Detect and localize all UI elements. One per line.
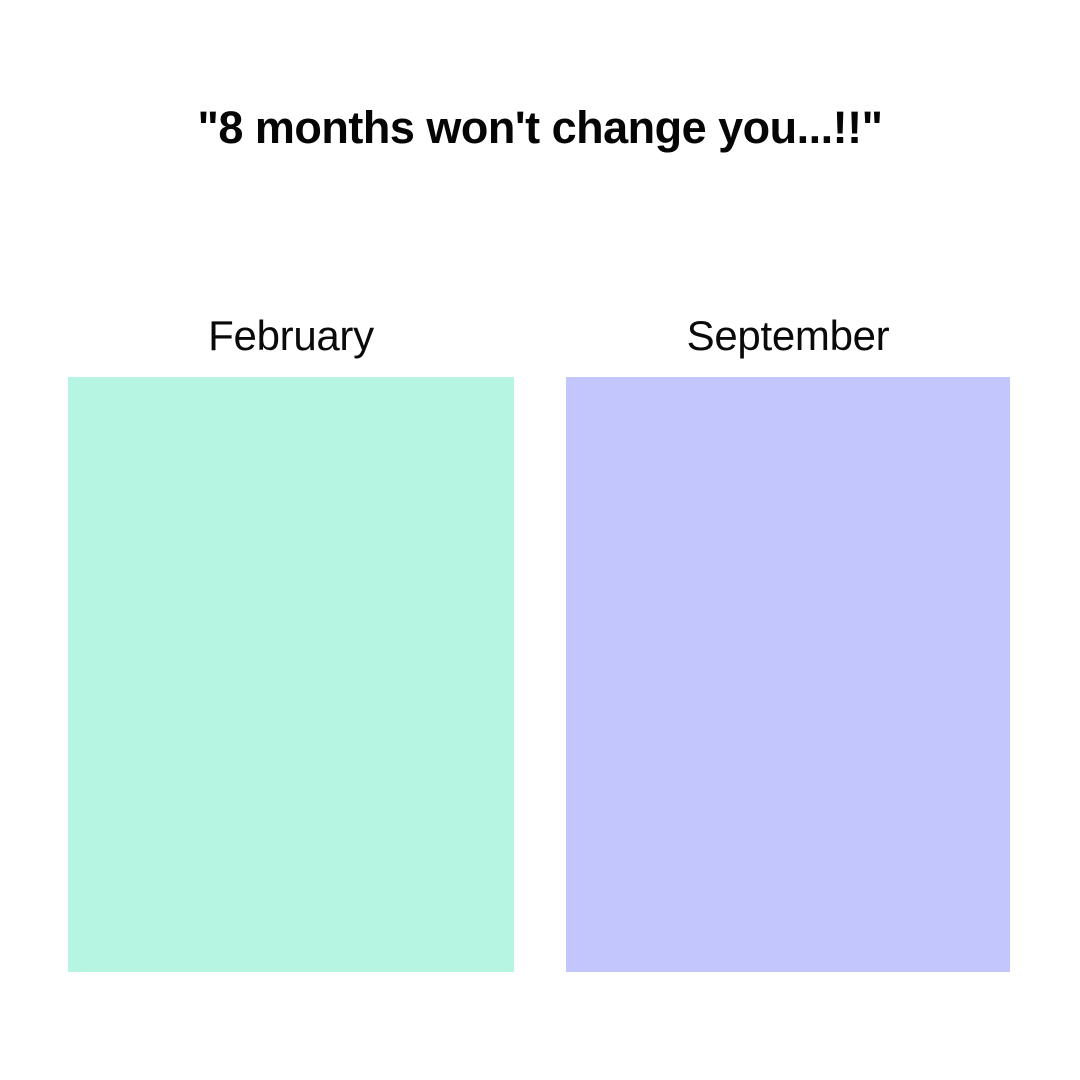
comparison-grid: February September [68, 294, 1010, 972]
column-label-february: February [208, 294, 374, 377]
meme-title: "8 months won't change you...!!" [0, 103, 1080, 153]
comparison-column-september: September [566, 294, 1010, 972]
meme-canvas: "8 months won't change you...!!" Februar… [0, 0, 1080, 1080]
column-label-september: September [687, 294, 890, 377]
comparison-column-february: February [68, 294, 514, 972]
september-photo [566, 377, 1010, 972]
february-photo [68, 377, 514, 972]
